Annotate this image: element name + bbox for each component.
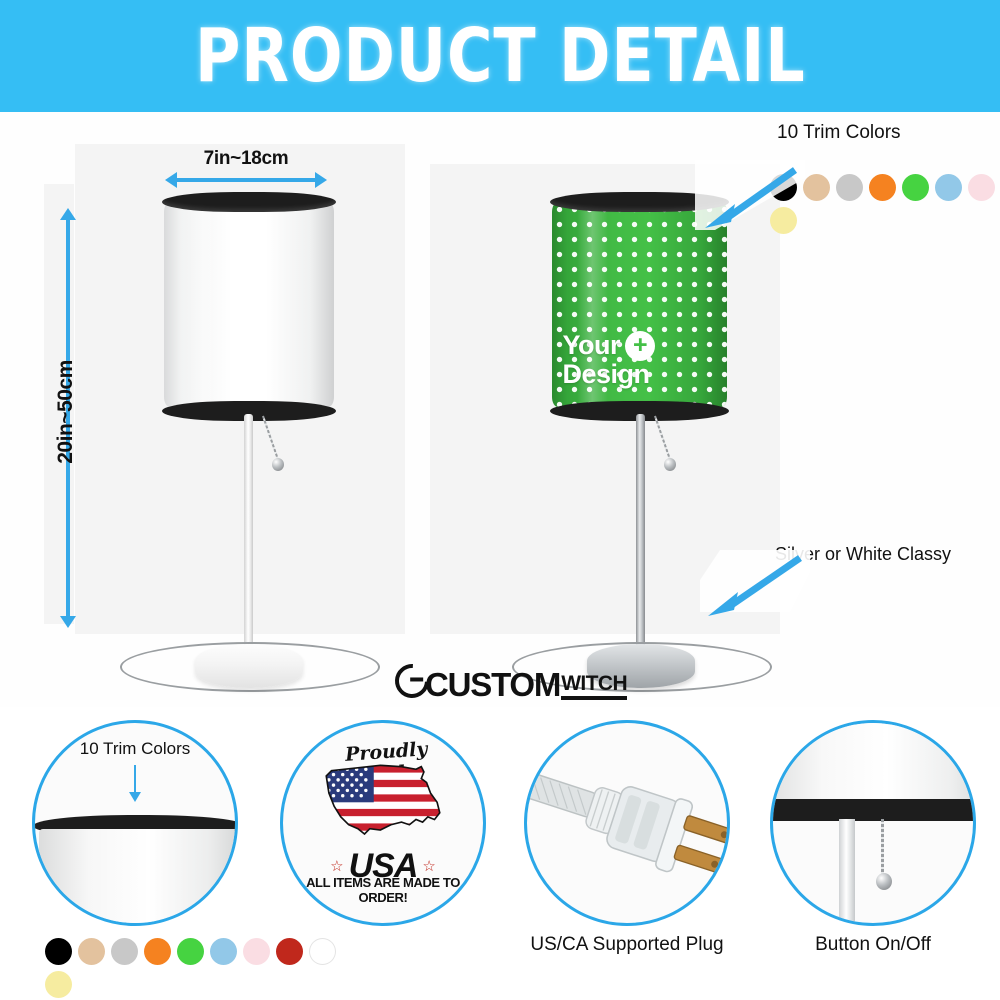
bottom-swatch-row-2: [45, 971, 336, 998]
swatch-orange[interactable]: [869, 174, 896, 201]
arrow-head-right-icon: [315, 172, 327, 188]
white-lamp-pull-chain[interactable]: [262, 416, 279, 460]
detail-shade-bottom: [770, 723, 976, 801]
white-lamp-base: [195, 644, 303, 688]
swatch-dark-red[interactable]: [276, 938, 303, 965]
arrow-head-left-icon: [165, 172, 177, 188]
bottom-swatch-row-1: [45, 938, 336, 965]
swatch-black[interactable]: [45, 938, 72, 965]
swatch-light-blue[interactable]: [935, 174, 962, 201]
white-shade-surface: [164, 202, 334, 407]
plug-caption: US/CA Supported Plug: [502, 934, 752, 956]
detail-trim-bar: [770, 799, 976, 821]
height-dimension-label: 20in~50cm: [54, 302, 78, 522]
logo-custom-text: CUSTOM: [425, 669, 560, 700]
finish-pointer-arrow-icon: [700, 550, 810, 620]
green-lamp-chain-ball[interactable]: [664, 458, 676, 471]
button-onoff-caption: Button On/Off: [748, 934, 998, 956]
plug-detail-circle: [524, 720, 730, 926]
logo-witch-text: WITCH: [561, 673, 627, 700]
width-arrow-shaft: [173, 178, 319, 182]
trim-colors-detail-circle: 10 Trim Colors: [32, 720, 238, 926]
arrow-down-icon: [134, 765, 136, 793]
bottom-trim-swatches: [45, 938, 336, 998]
swatch-light-blue[interactable]: [210, 938, 237, 965]
swatch-pink[interactable]: [968, 174, 995, 201]
detail-cell-button-onoff: Button On/Off: [748, 716, 998, 1000]
swatch-tan[interactable]: [78, 938, 105, 965]
swatch-gray[interactable]: [836, 174, 863, 201]
star-icon-left: ☆: [330, 857, 343, 875]
page-title: PRODUCT DETAIL: [195, 13, 806, 99]
usa-subtitle: ALL ITEMS ARE MADE TO ORDER!: [283, 875, 483, 905]
green-lamp-shade-body: Your + Design: [552, 202, 727, 407]
product-stage: 7in~18cm 20in~50cm: [0, 112, 1000, 707]
white-lamp-shade-body: [164, 202, 334, 407]
swatch-green[interactable]: [177, 938, 204, 965]
your-design-text: Your + Design: [563, 331, 656, 389]
usa-badge: Proudly Made in the: [283, 723, 483, 923]
white-lamp-shade: [164, 192, 334, 417]
swatch-tan[interactable]: [803, 174, 830, 201]
detail-pole: [839, 819, 855, 926]
brand-logo: CUSTOM WITCH: [395, 664, 627, 700]
swatch-white[interactable]: [309, 938, 336, 965]
white-lamp: [150, 192, 400, 642]
green-lamp-pull-chain[interactable]: [654, 416, 671, 460]
header-banner: PRODUCT DETAIL: [0, 0, 1000, 112]
detail-chain-ball[interactable]: [876, 873, 892, 890]
swatch-pale-yellow[interactable]: [45, 971, 72, 998]
width-dimension-label: 7in~18cm: [165, 148, 327, 170]
trim-colors-circle-label: 10 Trim Colors: [35, 739, 235, 759]
swatch-orange[interactable]: [144, 938, 171, 965]
arrow-head-down-icon: [60, 616, 76, 628]
white-lamp-chain-ball[interactable]: [272, 458, 284, 471]
width-dimension: 7in~18cm: [165, 148, 327, 186]
detail-pull-chain[interactable]: [881, 819, 884, 877]
trim-colors-title: 10 Trim Colors: [777, 122, 901, 144]
star-icon-right: ☆: [422, 857, 435, 875]
height-dimension: 20in~50cm: [48, 208, 88, 628]
your-design-line2-label: Design: [563, 361, 656, 389]
usa-map-flag-icon: [317, 755, 449, 843]
power-plug-icon: [527, 723, 727, 923]
your-design-line1-label: Your: [563, 332, 621, 360]
swatch-pink[interactable]: [243, 938, 270, 965]
arrow-head-up-icon: [60, 208, 76, 220]
detail-cell-plug: US/CA Supported Plug: [502, 716, 752, 1000]
your-design-line-1: Your +: [563, 331, 656, 361]
white-lamp-trim-top: [162, 192, 336, 212]
trim-colors-pointer-arrow-icon: [695, 160, 805, 230]
detail-lamp-shade: [39, 829, 238, 926]
plus-icon: +: [625, 331, 655, 361]
made-in-usa-detail-circle: Proudly Made in the: [280, 720, 486, 926]
button-onoff-detail-circle: [770, 720, 976, 926]
swatch-gray[interactable]: [111, 938, 138, 965]
swatch-green[interactable]: [902, 174, 929, 201]
